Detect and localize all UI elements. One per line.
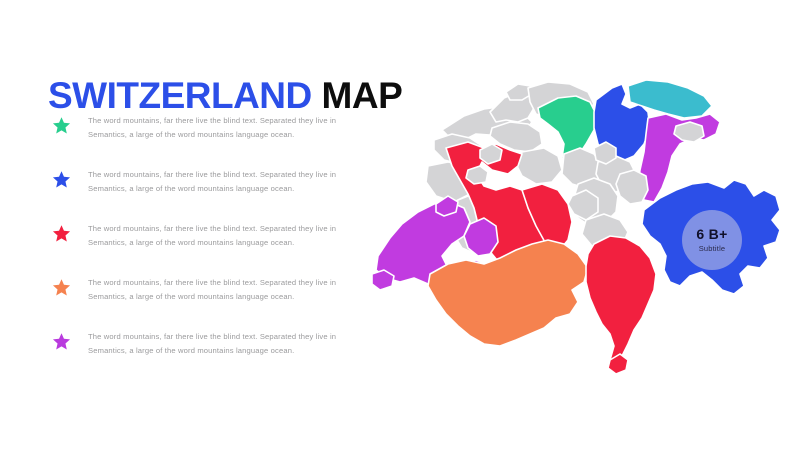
list-item-text: The word mountains, far there live the b… [88,166,350,195]
list-item[interactable]: The word mountains, far there live the b… [52,274,352,328]
star-icon-red [52,224,71,243]
map-region-central-obwalden[interactable] [568,190,598,220]
title-secondary-space [312,75,322,116]
page-title: SWITZERLAND MAP [48,77,402,114]
star-icon-green [52,116,71,135]
star-icon-orange [52,278,71,297]
map-region-bern-mid-grey[interactable] [516,148,562,184]
map-region-ticino[interactable] [586,236,656,366]
list-item[interactable]: The word mountains, far there live the b… [52,328,352,382]
list-item-text: The word mountains, far there live the b… [88,112,350,141]
list-item[interactable]: The word mountains, far there live the b… [52,112,352,166]
bullet-list: The word mountains, far there live the b… [52,112,352,382]
star-icon-purple [52,332,71,351]
status-badge[interactable]: 6 B+ Subtitle [682,210,742,270]
map-region-glarus[interactable] [616,170,648,204]
list-item[interactable]: The word mountains, far there live the b… [52,220,352,274]
map-region-valais[interactable] [428,240,588,346]
list-item[interactable]: The word mountains, far there live the b… [52,166,352,220]
slide-canvas: SWITZERLAND MAP The word mountains, far … [0,0,800,450]
list-item-text: The word mountains, far there live the b… [88,274,350,303]
badge-value: 6 B+ [696,227,727,241]
star-icon-blue [52,170,71,189]
list-item-text: The word mountains, far there live the b… [88,220,350,249]
badge-subtitle: Subtitle [699,245,726,253]
list-item-text: The word mountains, far there live the b… [88,328,350,357]
map-region-zug[interactable] [594,142,616,164]
title-primary: SWITZERLAND [48,75,312,116]
